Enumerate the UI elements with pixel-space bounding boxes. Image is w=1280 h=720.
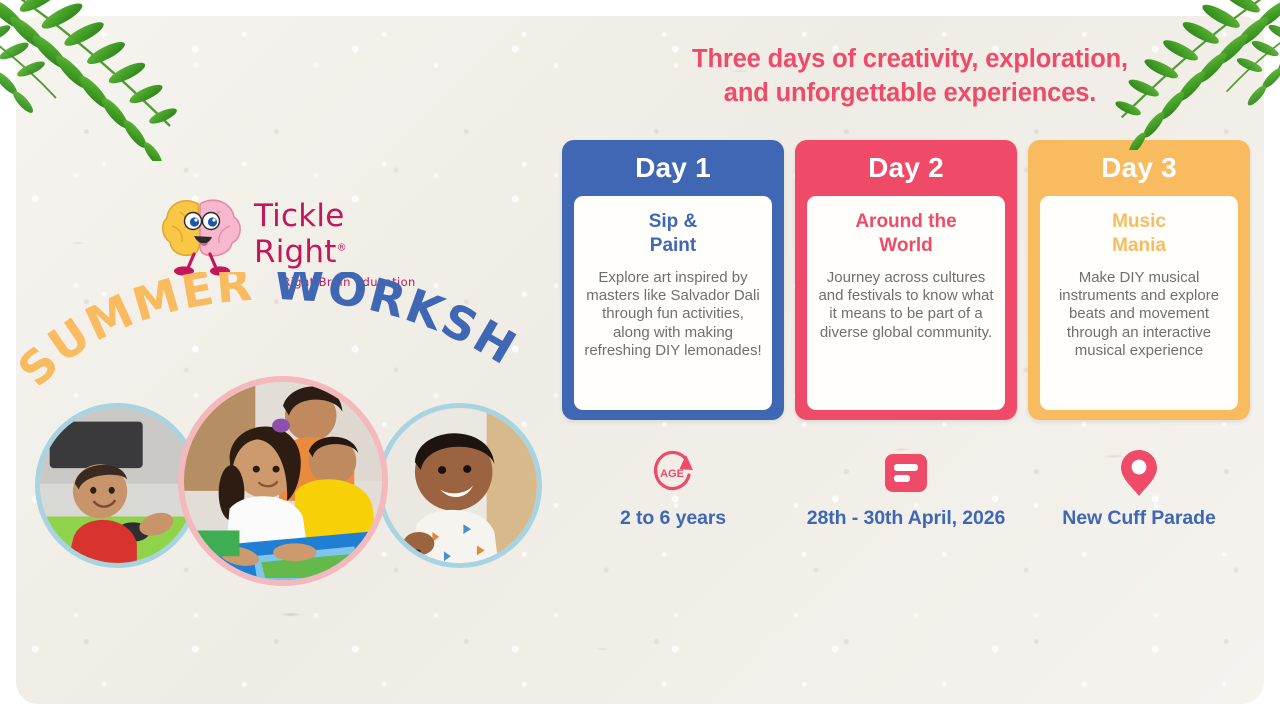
age-icon-text: AGE (660, 468, 684, 480)
day-card-3-subtitle: Music Mania (1049, 210, 1229, 258)
day-card-2-title: Day 2 (795, 140, 1017, 196)
day-cards: Day 1 Sip & Paint Explore art inspired b… (562, 140, 1250, 420)
brand-name: Tickle Right® (254, 198, 444, 270)
day-card-1-title: Day 1 (562, 140, 784, 196)
day-card-2-subtitle: Around the World (816, 210, 996, 258)
day-card-3-description: Make DIY musical instruments and explore… (1049, 269, 1229, 360)
day-card-2[interactable]: Day 2 Around the World Journey across cu… (795, 140, 1017, 420)
day-card-1-subtitle: Sip & Paint (583, 210, 763, 258)
photo-collage (30, 385, 530, 560)
info-item-age: AGE 2 to 6 years (562, 444, 784, 530)
summer-workshop-wordmark: SUMMER WORKSHOP (18, 272, 538, 402)
day-card-1[interactable]: Day 1 Sip & Paint Explore art inspired b… (562, 140, 784, 420)
day-card-3-body: Music Mania Make DIY musical instruments… (1040, 196, 1238, 410)
info-icon-age-wrap: AGE (562, 444, 784, 502)
photo-children-activity-table (178, 376, 388, 586)
day-card-2-description: Journey across cultures and festivals to… (816, 269, 996, 342)
info-item-dates: 28th - 30th April, 2026 (795, 444, 1017, 530)
headline-line-1: Three days of creativity, exploration, (560, 42, 1260, 76)
registered-mark: ® (337, 243, 347, 254)
poster-root: Three days of creativity, exploration, a… (0, 0, 1280, 720)
info-label-location: New Cuff Parade (1028, 507, 1250, 530)
photo-smiling-toddler (377, 403, 542, 568)
day-card-1-body: Sip & Paint Explore art inspired by mast… (574, 196, 772, 410)
calendar-card-icon (883, 450, 929, 496)
day-card-2-body: Around the World Journey across cultures… (807, 196, 1005, 410)
day-card-3[interactable]: Day 3 Music Mania Make DIY musical instr… (1028, 140, 1250, 420)
info-item-location: New Cuff Parade (1028, 444, 1250, 530)
info-label-age: 2 to 6 years (562, 507, 784, 530)
info-label-dates: 28th - 30th April, 2026 (795, 507, 1017, 530)
day-card-1-description: Explore art inspired by masters like Sal… (583, 269, 763, 360)
headline-line-2: and unforgettable experiences. (560, 76, 1260, 110)
age-circle-arrow-icon: AGE (646, 447, 700, 499)
location-pin-icon (1119, 447, 1159, 499)
info-row: AGE 2 to 6 years 28th - 30th April, 2026 (562, 444, 1250, 530)
info-icon-location-wrap (1028, 444, 1250, 502)
brand-logo: Tickle Right® Right Brain Education (158, 192, 438, 278)
info-icon-dates-wrap (795, 444, 1017, 502)
photo-child-red-shirt (35, 403, 200, 568)
headline: Three days of creativity, exploration, a… (560, 42, 1260, 110)
svg-text:SUMMER W: SUMMER WORKSHOP (18, 272, 527, 397)
day-card-3-title: Day 3 (1028, 140, 1250, 196)
wordmark-summer: SUMMER (18, 272, 256, 397)
brain-mascot-icon (158, 192, 250, 278)
